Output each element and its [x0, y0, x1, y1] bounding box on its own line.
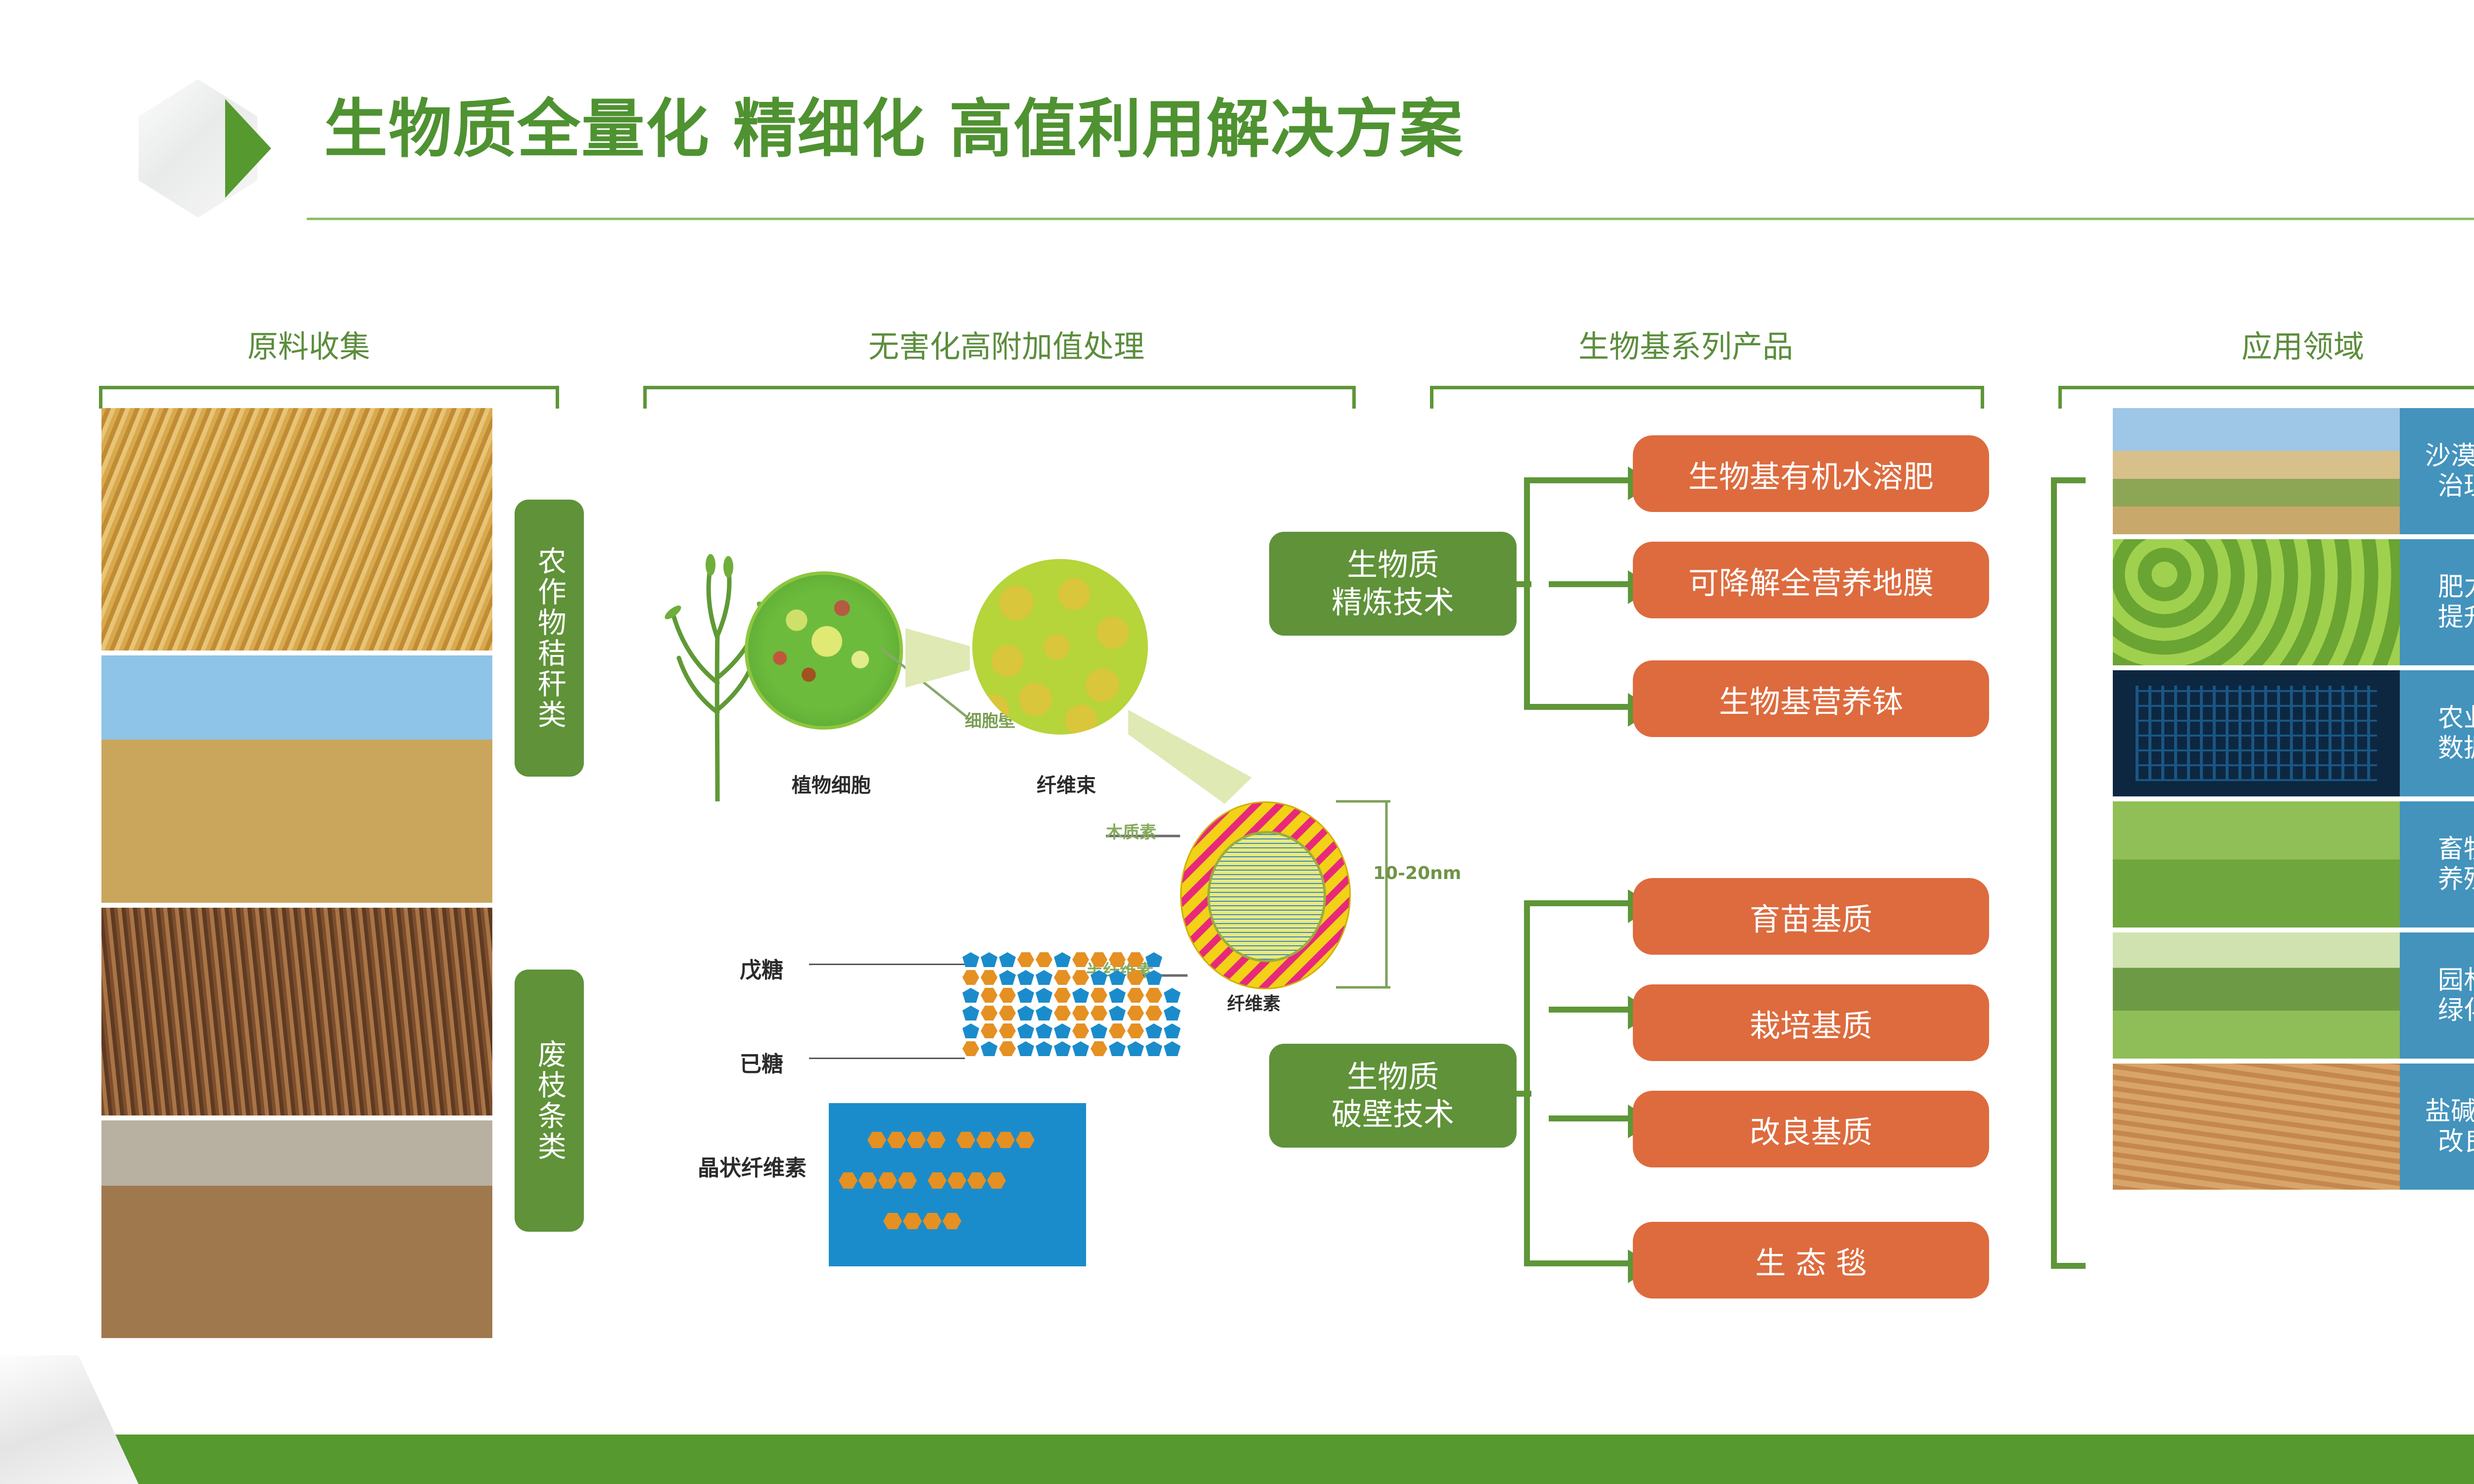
- section-bracket-applications: [2058, 386, 2474, 409]
- tech-box-cell-wall[interactable]: 生物质 破壁技术: [1269, 1044, 1517, 1148]
- photo-saline-alkali-land: [2113, 1064, 2400, 1190]
- application-row-data[interactable]: 农业 数据: [2113, 670, 2474, 796]
- application-row-saline[interactable]: 盐碱地 改良: [2113, 1064, 2474, 1190]
- application-label-fertility: 肥力 提升: [2400, 539, 2474, 665]
- footer-wedge-decoration: [0, 1355, 139, 1484]
- label-crystalline-cellulose: 晶状纤维素: [698, 1150, 807, 1182]
- arrow-line-product-6: [1549, 1115, 1628, 1121]
- label-cellulose: 纤维素: [1227, 989, 1281, 1015]
- application-row-livestock[interactable]: 畜牧 养殖: [2113, 801, 2474, 927]
- feedstock-tag-crop-straw: 农作物秸秆类: [515, 500, 584, 777]
- feedstock-tag-waste-branches: 废枝条类: [515, 970, 584, 1232]
- product-seedling-substrate[interactable]: 育苗基质: [1633, 878, 1989, 955]
- section-heading-collection: 原料收集: [247, 322, 370, 366]
- hexose-leader-line: [809, 1058, 965, 1059]
- photo-agri-data-screen: [2113, 670, 2400, 796]
- product-improved-substrate[interactable]: 改良基质: [1633, 1091, 1989, 1167]
- sugar-chain-diagram: [962, 952, 1181, 1059]
- section-heading-processing: 无害化高附加值处理: [868, 322, 1144, 366]
- arrow-line-product-1: [1549, 477, 1628, 483]
- photo-dry-branches: [101, 908, 492, 1115]
- photo-landscape-greening: [2113, 932, 2400, 1059]
- application-label-landscape: 园林 绿化: [2400, 932, 2474, 1059]
- section-heading-applications: 应用领域: [2241, 322, 2364, 366]
- product-cultivation-substrate[interactable]: 栽培基质: [1633, 984, 1989, 1061]
- photo-vineyard-prunings: [101, 1120, 492, 1338]
- label-lignin: 木质素: [1106, 819, 1156, 843]
- application-row-fertility[interactable]: 肥力 提升: [2113, 539, 2474, 665]
- product-ecological-blanket[interactable]: 生 态 毯: [1633, 1222, 1989, 1298]
- page-title: 生物质全量化 精细化 高值利用解决方案: [324, 94, 1464, 165]
- label-pentose: 戊糖: [740, 952, 783, 984]
- photo-corn-straw-field: [101, 408, 492, 650]
- application-label-livestock: 畜牧 养殖: [2400, 801, 2474, 927]
- arrow-line-product-7: [1549, 1260, 1628, 1266]
- label-hexose: 已糖: [740, 1046, 783, 1078]
- applications-bracket: [2051, 477, 2086, 1269]
- refining-bracket: [1524, 477, 1551, 710]
- arrow-line-product-2: [1549, 581, 1628, 587]
- section-bracket-processing: [643, 386, 1356, 409]
- application-row-landscape[interactable]: 园林 绿化: [2113, 932, 2474, 1059]
- label-plant-cell: 植物细胞: [792, 769, 871, 798]
- data-screen-overlay: [2136, 686, 2377, 782]
- slide-canvas: 生物质全量化 精细化 高值利用解决方案 原料收集 无害化高附加值处理 生物基系列…: [0, 0, 2474, 1484]
- product-bio-nutrient-pot[interactable]: 生物基营养钵: [1633, 660, 1989, 737]
- scale-indicator: [1331, 791, 1420, 999]
- application-label-saline: 盐碱地 改良: [2400, 1064, 2474, 1190]
- application-label-data: 农业 数据: [2400, 670, 2474, 796]
- cellwall-stem: [1517, 1091, 1531, 1097]
- magnify-beam-3: [1128, 710, 1252, 804]
- arrow-decoration: [225, 99, 299, 198]
- photo-baled-straw: [101, 655, 492, 903]
- tech-box-refining[interactable]: 生物质 精炼技术: [1269, 532, 1517, 636]
- section-bracket-collection: [99, 386, 559, 409]
- title-divider: [307, 218, 2474, 220]
- label-nm-scale: 10-20nm: [1373, 863, 1461, 883]
- product-bio-water-soluble-fertilizer[interactable]: 生物基有机水溶肥: [1633, 435, 1989, 512]
- product-degradable-nutrient-film[interactable]: 可降解全营养地膜: [1633, 542, 1989, 618]
- cellwall-bracket: [1524, 900, 1551, 1266]
- crystalline-cellulose-diagram: [829, 1103, 1086, 1266]
- label-fiber-bundle: 纤维束: [1037, 769, 1096, 798]
- application-row-desert[interactable]: 沙漠化 治理: [2113, 408, 2474, 534]
- refining-stem: [1517, 581, 1531, 587]
- fiber-bundle-illustration: [972, 559, 1148, 735]
- arrow-line-product-3: [1549, 704, 1628, 710]
- arrow-line-product-4: [1549, 900, 1628, 906]
- footer-bar: [109, 1435, 2474, 1484]
- photo-desert-control: [2113, 408, 2400, 534]
- arrow-line-product-5: [1549, 1007, 1628, 1013]
- photo-sheep-grazing: [2113, 801, 2400, 927]
- pentose-leader-line: [809, 964, 965, 965]
- application-label-desert: 沙漠化 治理: [2400, 408, 2474, 534]
- section-heading-products: 生物基系列产品: [1578, 322, 1793, 366]
- cellulose-core: [1207, 831, 1326, 962]
- photo-cabbage-field: [2113, 539, 2400, 665]
- section-bracket-products: [1430, 386, 1984, 409]
